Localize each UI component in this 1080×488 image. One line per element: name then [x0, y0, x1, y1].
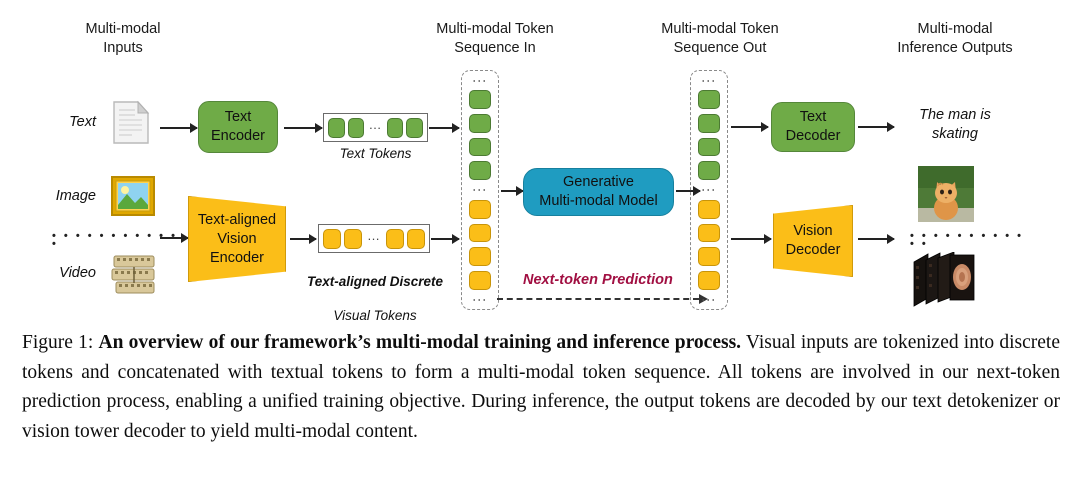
next-token-prediction-dashed-arrow [497, 298, 699, 300]
vision-decoder-label: Vision Decoder [773, 205, 853, 277]
visual-token [344, 229, 362, 249]
arrow-visual-to-encoder [160, 237, 188, 239]
seq-in-token-green [469, 114, 491, 133]
text-token [406, 118, 423, 138]
seq-out-token-yellow [698, 224, 720, 243]
visual-tokens-caption: Text-aligned Discrete Visual Tokens [300, 256, 450, 324]
arrow-text-to-encoder [160, 127, 197, 129]
arrow-texttokens-to-seqin [429, 127, 459, 129]
vision-encoder-label: Text-aligned Vision Encoder [188, 196, 286, 282]
input-ellipsis: • • • • • • • • • • • • [52, 232, 182, 248]
text-tokens-caption: Text Tokens [323, 145, 428, 162]
visual-token [323, 229, 341, 249]
arrow-seqout-to-textdecoder [731, 126, 768, 128]
arrow-visionencoder-to-tokens [290, 238, 316, 240]
input-label-text: Text [40, 114, 96, 130]
seq-in-token-yellow [469, 224, 491, 243]
seq-out-token-green [698, 161, 720, 180]
seq-out-token-yellow [698, 200, 720, 219]
video-frames-icon [912, 252, 978, 308]
arrow-textencoder-to-tokens [284, 127, 322, 129]
visual-token [386, 229, 404, 249]
header-multimodal-inputs: Multi-modal Inputs [48, 20, 198, 58]
picture-frame-icon [110, 175, 156, 217]
caption-label: Figure 1: [22, 332, 93, 353]
seq-dots: ⋮ [706, 183, 712, 197]
seq-in-token-yellow [469, 200, 491, 219]
text-token [387, 118, 404, 138]
arrow-visiondecoder-to-output [858, 238, 894, 240]
text-decoder-box[interactable]: Text Decoder [771, 102, 855, 152]
visual-tokens-caption-bold: Text-aligned Discrete [307, 274, 443, 289]
seq-dots: ⋮ [477, 73, 483, 87]
text-token [348, 118, 365, 138]
input-label-image: Image [40, 188, 96, 204]
seq-dots: ⋮ [477, 293, 483, 307]
output-ellipsis: • • • • • • • • • • • • [910, 232, 1030, 248]
figure-caption: Figure 1: An overview of our framework’s… [22, 328, 1060, 446]
figure-panel: Multi-modal Inputs Multi-modal Token Seq… [0, 0, 1080, 488]
text-tokens-inner-dots: … [367, 120, 383, 136]
visual-tokens-inner-dots: … [365, 231, 383, 247]
header-sequence-in: Multi-modal Token Sequence In [400, 20, 590, 58]
text-output: The man is skating [890, 106, 1020, 144]
sequence-out-column: ⋮ ⋮ ⋮ [690, 70, 728, 310]
header-sequence-out: Multi-modal Token Sequence Out [625, 20, 815, 58]
cat-photo-icon [918, 166, 974, 222]
arrow-textdecoder-to-output [858, 126, 894, 128]
seq-out-token-green [698, 138, 720, 157]
seq-out-token-green [698, 90, 720, 109]
seq-in-token-yellow [469, 247, 491, 266]
arrow-seqin-to-model [501, 190, 523, 192]
seq-out-token-yellow [698, 271, 720, 290]
seq-in-token-yellow [469, 271, 491, 290]
next-token-prediction-label: Next-token Prediction [523, 272, 673, 288]
visual-tokens-caption-rest: Visual Tokens [333, 308, 416, 323]
seq-dots: ⋮ [706, 293, 712, 307]
text-tokens-strip: … [323, 113, 428, 142]
seq-in-token-green [469, 90, 491, 109]
seq-in-token-green [469, 138, 491, 157]
seq-dots: ⋮ [706, 73, 712, 87]
header-inference-outputs: Multi-modal Inference Outputs [855, 20, 1055, 58]
sequence-in-column: ⋮ ⋮ ⋮ [461, 70, 499, 310]
text-encoder-box[interactable]: Text Encoder [198, 101, 278, 153]
seq-in-token-green [469, 161, 491, 180]
caption-bold: An overview of our framework’s multi-mod… [99, 332, 742, 353]
arrow-seqout-to-visiondecoder [731, 238, 771, 240]
document-icon [110, 100, 152, 146]
visual-tokens-strip: … [318, 224, 430, 253]
input-label-video: Video [40, 265, 96, 281]
generative-multimodal-model-box[interactable]: Generative Multi-modal Model [523, 168, 674, 216]
seq-out-token-green [698, 114, 720, 133]
text-token [328, 118, 345, 138]
arrow-visualtokens-to-seqin [431, 238, 459, 240]
visual-token [407, 229, 425, 249]
seq-dots: ⋮ [477, 183, 483, 197]
film-reel-icon [108, 252, 160, 298]
seq-out-token-yellow [698, 247, 720, 266]
